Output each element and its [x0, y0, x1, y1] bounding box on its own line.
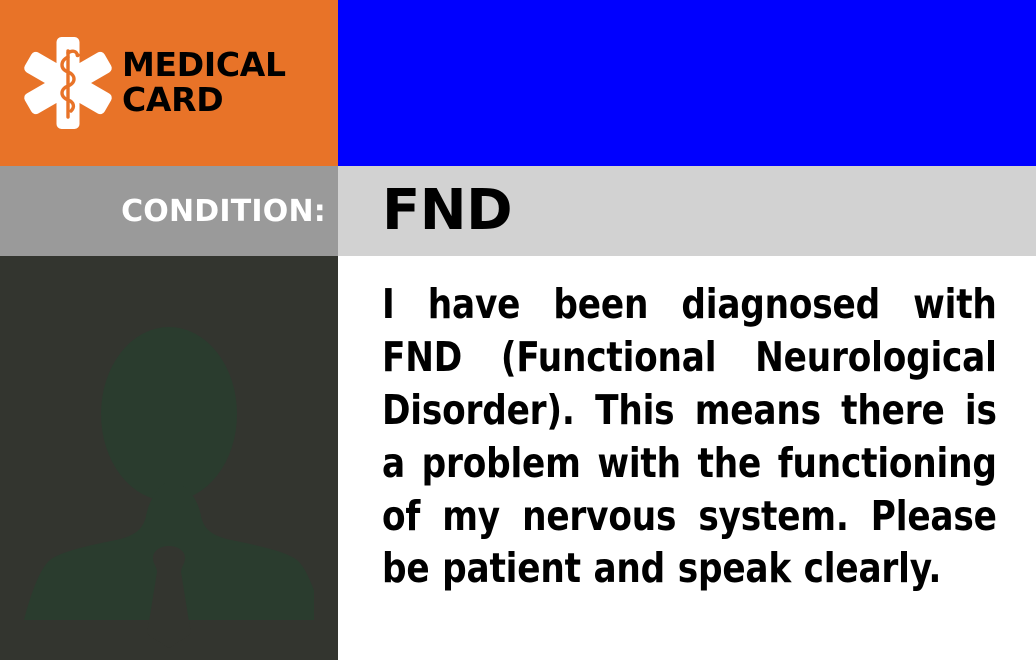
medical-card: MEDICAL CARD CONDITION: FND I have been … — [0, 0, 1036, 660]
body-text-container: I have been diagnosed with FND (Function… — [338, 256, 1036, 660]
condition-value: FND — [382, 183, 512, 239]
brand-header: MEDICAL CARD — [0, 0, 338, 166]
blue-accent-band — [338, 0, 1036, 166]
brand-title: MEDICAL CARD — [122, 48, 286, 117]
necktie-shape — [147, 546, 191, 648]
condition-label: CONDITION: — [121, 194, 326, 229]
star-of-life-icon — [22, 33, 114, 133]
condition-label-container: CONDITION: — [0, 166, 338, 256]
photo-placeholder — [0, 256, 338, 660]
condition-value-container: FND — [338, 166, 1036, 256]
condition-description: I have been diagnosed with FND (Function… — [382, 278, 997, 595]
person-silhouette-icon — [24, 296, 314, 660]
brand-title-line-2: CARD — [122, 83, 286, 118]
brand-title-line-1: MEDICAL — [122, 48, 286, 83]
